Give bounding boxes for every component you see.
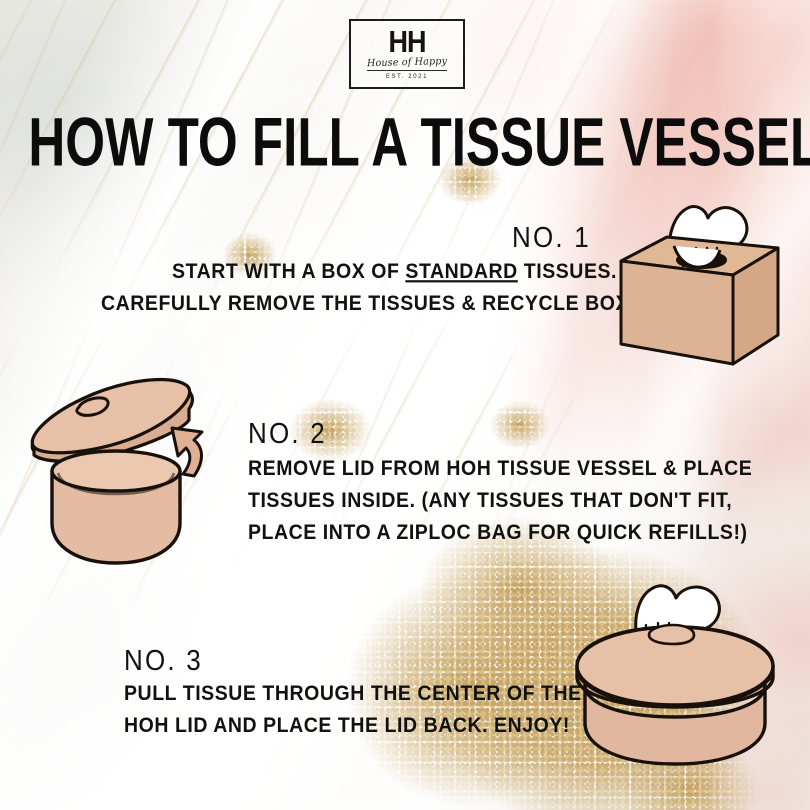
page-title: HOW TO FILL A TISSUE VESSEL	[28, 106, 781, 178]
step-3-number: NO. 3	[124, 643, 203, 677]
step-2-line-1: REMOVE LID FROM HOH TISSUE VESSEL & PLAC…	[248, 453, 752, 485]
step-1-illustration-tissue-box	[604, 188, 794, 373]
step-2-line-2: TISSUES INSIDE. (ANY TISSUES THAT DON'T …	[248, 485, 752, 517]
step-3-illustration-closed-vessel	[563, 573, 788, 768]
step-1-line-1-after: TISSUES.	[518, 259, 617, 283]
step-2-illustration-open-vessel	[22, 358, 237, 568]
step-1-line-1: START WITH A BOX OF STANDARD TISSUES.	[172, 256, 635, 288]
logo-divider	[367, 70, 447, 71]
tissue-box-cube-icon	[604, 188, 794, 373]
step-1-line-1-before: START WITH A BOX OF	[172, 259, 405, 283]
step-3-text: PULL TISSUE THROUGH THE CENTER OF THE HO…	[124, 678, 582, 742]
brand-logo: HH House of Happy EST. 2021	[349, 19, 465, 89]
step-1-number: NO. 1	[512, 220, 591, 254]
step-2-number: NO. 2	[248, 416, 327, 450]
logo-established: EST. 2021	[386, 74, 428, 80]
step-1-text: START WITH A BOX OF STANDARD TISSUES. CA…	[172, 256, 635, 320]
step-1-line-2: CAREFULLY REMOVE THE TISSUES & RECYCLE B…	[101, 288, 635, 320]
infographic-poster: HH House of Happy EST. 2021 HOW TO FILL …	[0, 0, 810, 810]
logo-script-name: House of Happy	[367, 56, 447, 68]
step-2-text: REMOVE LID FROM HOH TISSUE VESSEL & PLAC…	[248, 453, 752, 549]
step-2-line-3: PLACE INTO A ZIPLOC BAG FOR QUICK REFILL…	[248, 517, 752, 549]
logo-monogram: HH	[389, 27, 426, 57]
closed-vessel-with-tissue-icon	[563, 573, 788, 768]
step-3-line-1: PULL TISSUE THROUGH THE CENTER OF THE	[124, 678, 582, 710]
step-3-line-2: HOH LID AND PLACE THE LID BACK. ENJOY!	[124, 710, 582, 742]
open-vessel-icon	[22, 358, 237, 568]
step-1-emphasis-standard: STANDARD	[405, 259, 517, 283]
